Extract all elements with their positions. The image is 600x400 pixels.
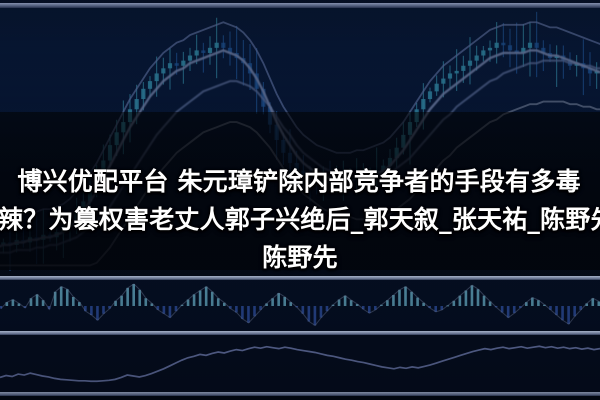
- stock-chart-background: [0, 0, 600, 400]
- histogram-panel-bg: [0, 280, 600, 331]
- screenshot-stage: 博兴优配平台 朱元璋铲除内部竞争者的手段有多毒 辣？为篡权害老丈人郭子兴绝后_郭…: [0, 0, 600, 400]
- indicator-panel-bg: [0, 335, 600, 392]
